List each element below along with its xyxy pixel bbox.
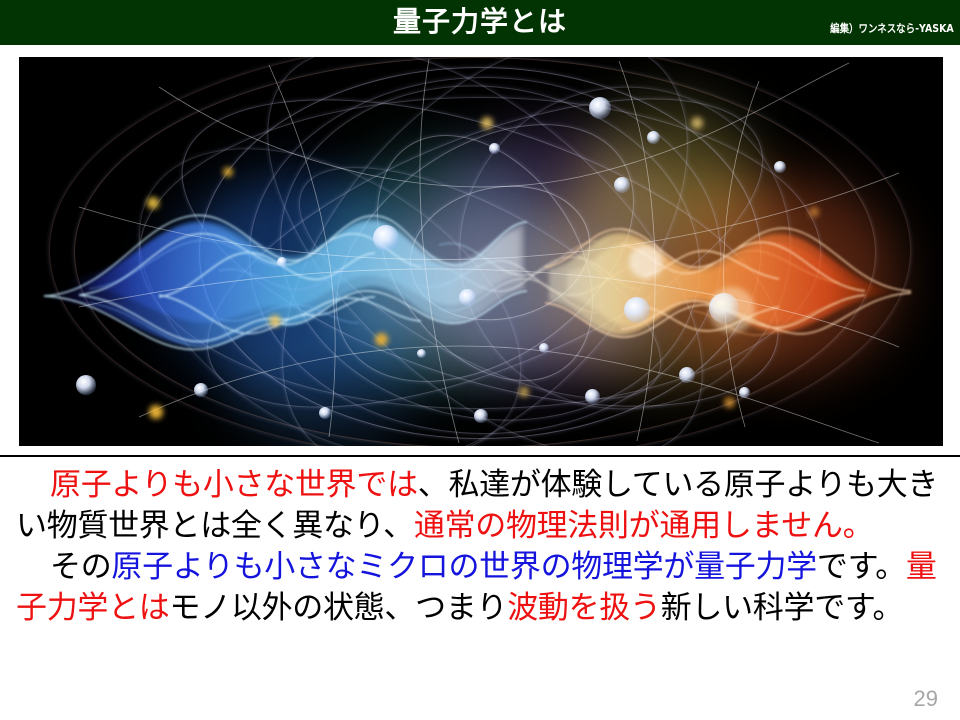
quantum-wave-visualization-image bbox=[19, 57, 943, 446]
page-title: 量子力学とは bbox=[0, 0, 960, 45]
p2-run-2: 原子よりも小さなミクロの世界の物理学が量子力学 bbox=[111, 549, 816, 585]
p2-run-1: その bbox=[50, 549, 111, 585]
slide: 量子力学とは 編集）ワンネスなら-YASKA bbox=[0, 0, 960, 720]
page-number: 29 bbox=[914, 686, 938, 712]
p2-run-5: モノ以外の状態、つまり bbox=[170, 590, 508, 626]
editor-credit: 編集）ワンネスなら-YASKA bbox=[830, 20, 954, 36]
header-bar: 量子力学とは 編集）ワンネスなら-YASKA bbox=[0, 0, 960, 45]
picture-frame bbox=[19, 57, 943, 446]
divider-rule bbox=[0, 455, 960, 457]
light-spark-layer bbox=[19, 57, 943, 446]
p2-run-7: 新しい科学です。 bbox=[661, 590, 904, 626]
paragraph-1: 原子よりも小さな世界では、私達が体験している原子よりも大きい物質世界とは全く異な… bbox=[16, 465, 946, 547]
p2-run-6: 波動を扱う bbox=[507, 590, 661, 626]
body-text: 原子よりも小さな世界では、私達が体験している原子よりも大きい物質世界とは全く異な… bbox=[0, 465, 960, 713]
p1-run-1: 原子よりも小さな世界では bbox=[50, 467, 418, 503]
p2-run-3: です。 bbox=[817, 549, 906, 585]
paragraph-2: その原子よりも小さなミクロの世界の物理学が量子力学です。量子力学とはモノ以外の状… bbox=[16, 547, 946, 629]
p1-run-3: 通常の物理法則が通用しません。 bbox=[414, 508, 874, 544]
